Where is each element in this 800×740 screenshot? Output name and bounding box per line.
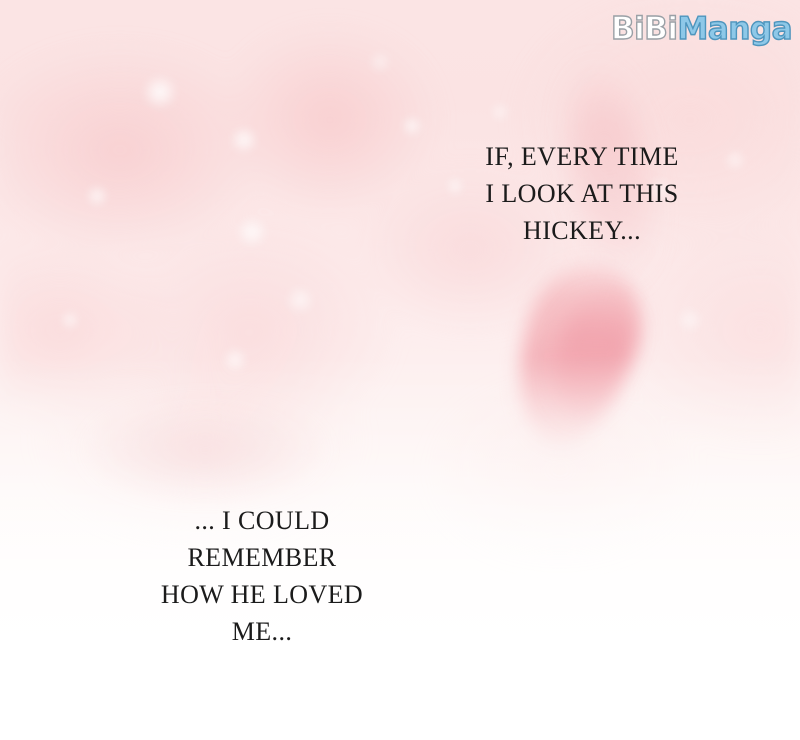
watermark-text-bibi: BiBi bbox=[611, 14, 678, 45]
caption-text-top: IF, EVERY TIME I LOOK AT THIS HICKEY... bbox=[432, 138, 732, 249]
caption-text-bottom: ... I COULD REMEMBER HOW HE LOVED ME... bbox=[112, 502, 412, 650]
comic-panel: BiBiManga IF, EVERY TIME I LOOK AT THIS … bbox=[0, 0, 800, 740]
bibimanga-watermark: BiBiManga bbox=[600, 10, 792, 48]
background-lower-pink-wash bbox=[40, 380, 370, 520]
watermark-text-manga: Manga bbox=[678, 14, 792, 45]
